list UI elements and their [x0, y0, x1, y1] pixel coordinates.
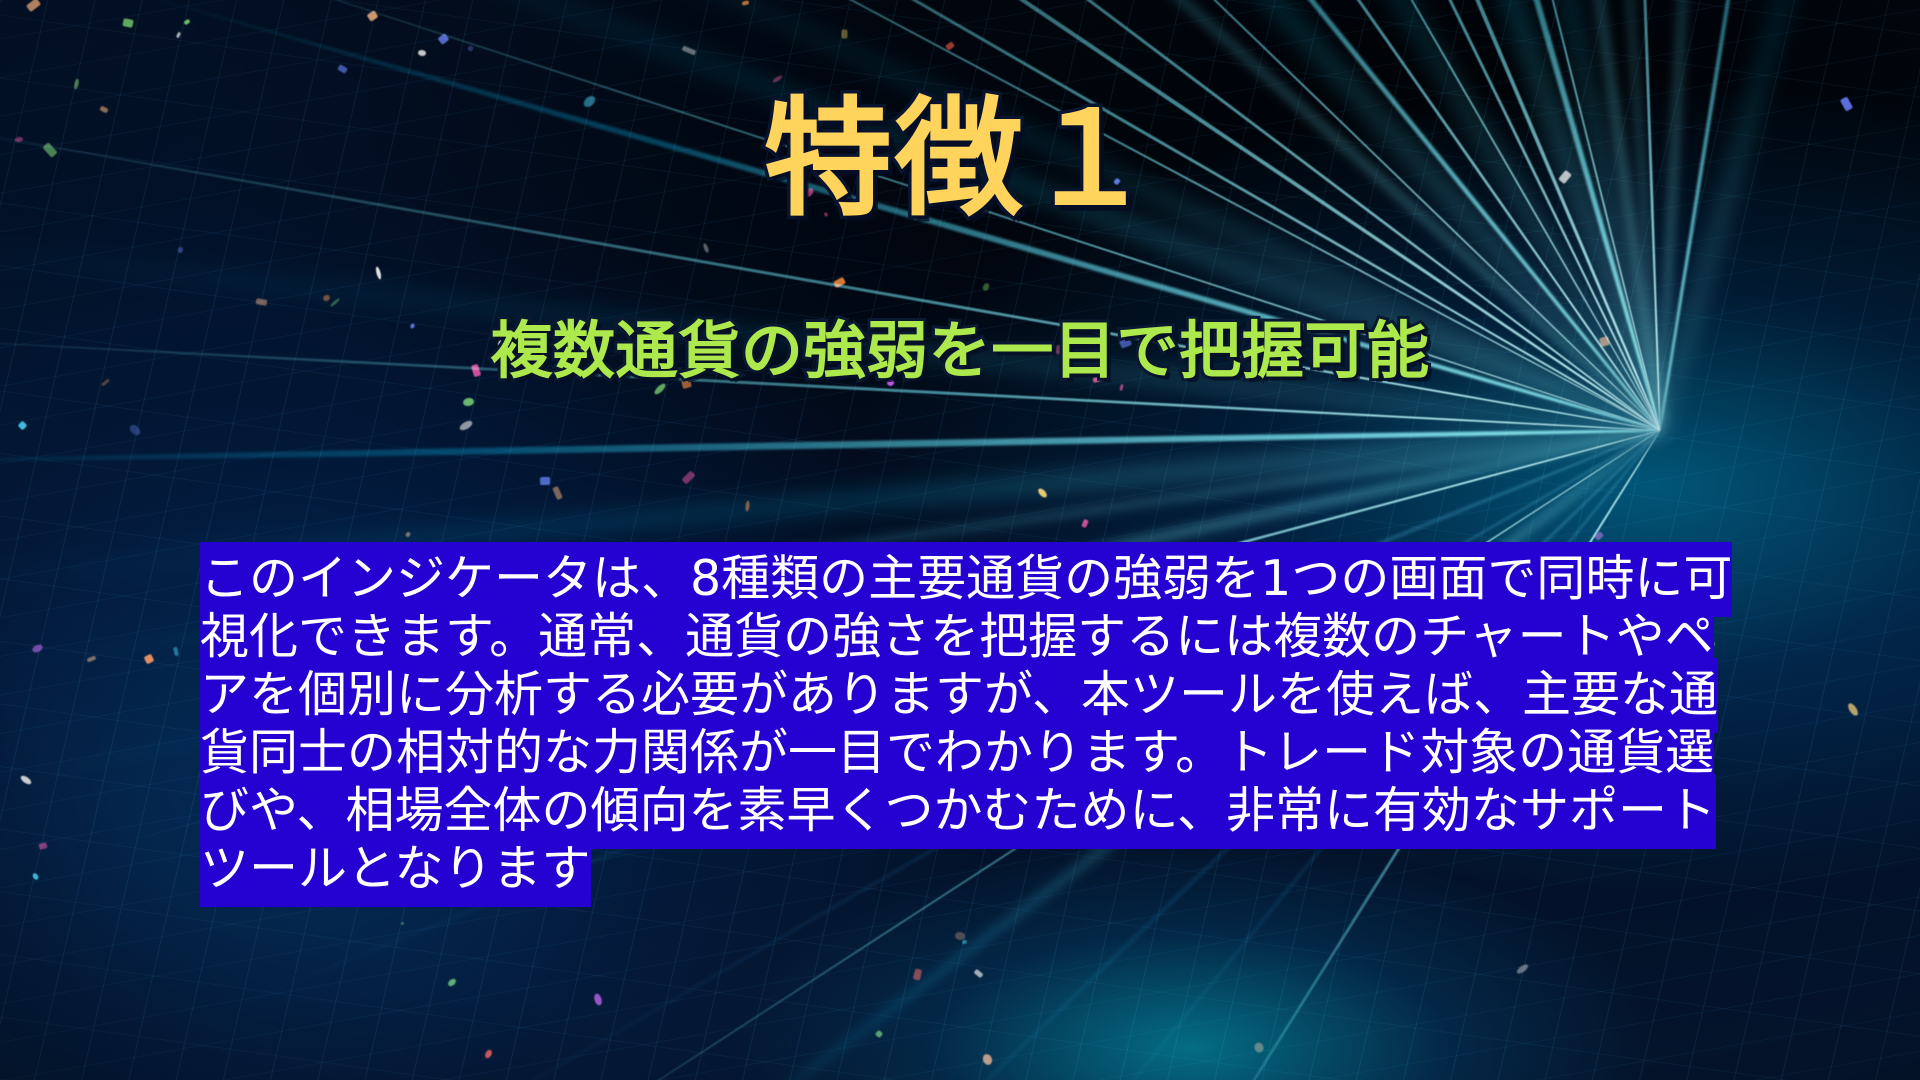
body-line: ツールとなります — [200, 840, 1810, 898]
page-subtitle: 複数通貨の強弱を一目で把握可能 — [0, 318, 1920, 385]
body-text-block: このインジケータは、8種類の主要通貨の強弱を1つの画面で同時に可 視化できます。… — [200, 550, 1810, 898]
page-title: 特徴１ — [0, 96, 1920, 224]
slide-canvas: 特徴１ 複数通貨の強弱を一目で把握可能 このインジケータは、8種類の主要通貨の強… — [0, 0, 1920, 1080]
body-line-text: ツールとなります — [200, 832, 591, 907]
